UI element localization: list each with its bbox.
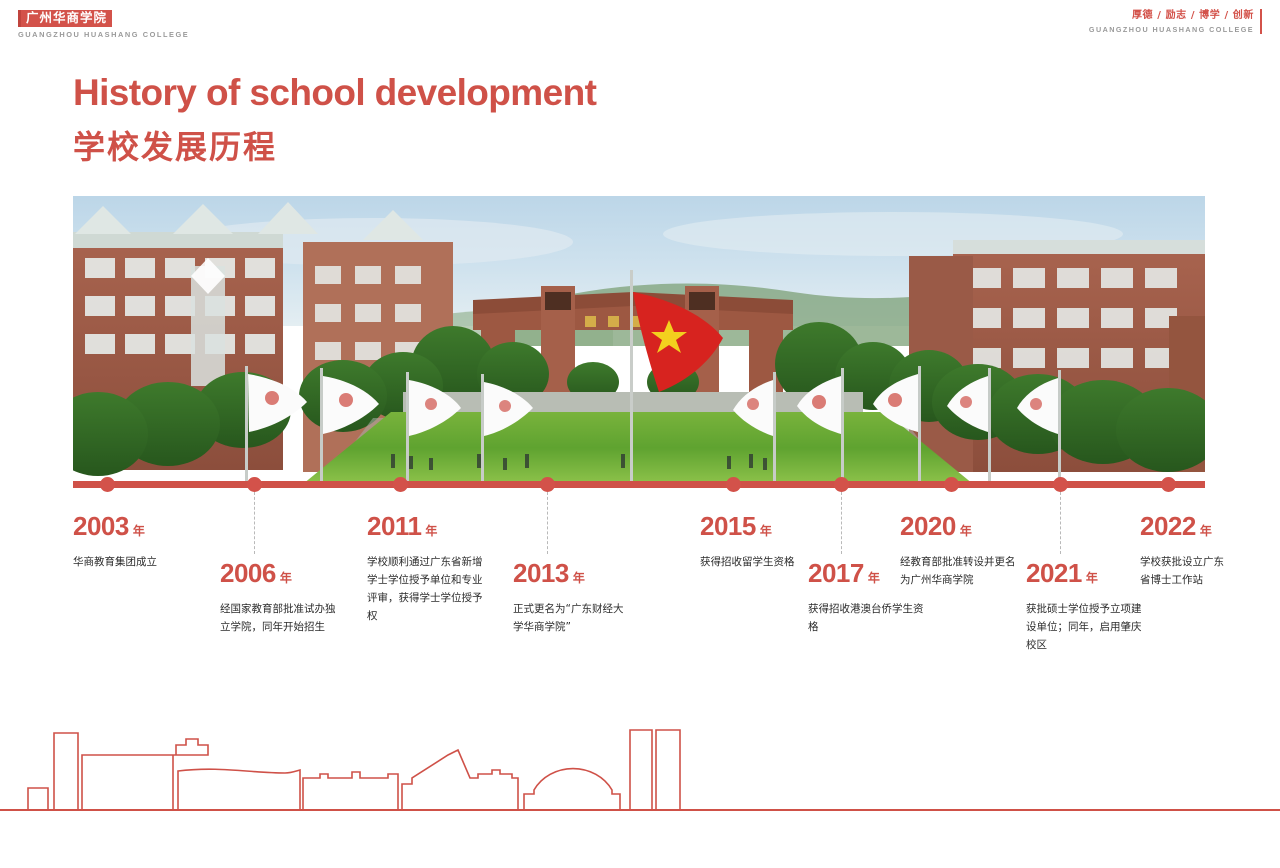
timeline-dot-2003[interactable]	[100, 477, 115, 492]
timeline-year-2006: 2006年	[220, 558, 340, 589]
motto-chinese: 厚德 / 励志 / 博学 / 创新	[1089, 9, 1254, 22]
timeline-description-2011: 学校顺利通过广东省新增学士学位授予单位和专业评审，获得学士学位授予权	[367, 553, 487, 625]
timeline-description-2015: 获得招收留学生资格	[700, 553, 820, 571]
timeline-dot-2022[interactable]	[1161, 477, 1176, 492]
timeline-year-suffix: 年	[425, 524, 437, 538]
timeline-year-2021: 2021年	[1026, 558, 1146, 589]
timeline-connector-2021	[1060, 492, 1061, 554]
timeline-year-suffix: 年	[133, 524, 145, 538]
timeline-connector-2013	[547, 492, 548, 554]
page-header: 广州华商学院 GUANGZHOU HUASHANG COLLEGE 厚德 / 励…	[0, 0, 1280, 46]
timeline-dot-2013[interactable]	[540, 477, 555, 492]
timeline-year-number: 2013	[513, 558, 569, 588]
timeline-entry-2011[interactable]: 2011年学校顺利通过广东省新增学士学位授予单位和专业评审，获得学士学位授予权	[367, 511, 487, 625]
timeline-year-2015: 2015年	[700, 511, 820, 542]
page-title-english: History of school development	[73, 72, 596, 114]
timeline-connector-2017	[841, 492, 842, 554]
timeline-entry-2015[interactable]: 2015年获得招收留学生资格	[700, 511, 820, 571]
timeline-description-2022: 学校获批设立广东省博士工作站	[1140, 553, 1232, 589]
timeline-year-suffix: 年	[760, 524, 772, 538]
timeline-year-2022: 2022年	[1140, 511, 1232, 542]
timeline-year-2011: 2011年	[367, 511, 487, 542]
logo-badge-cn: 广州华商学院	[18, 10, 112, 27]
timeline-dot-2017[interactable]	[834, 477, 849, 492]
timeline-connector-2006	[254, 492, 255, 554]
footer-skyline	[0, 700, 1280, 820]
timeline-year-suffix: 年	[573, 571, 585, 585]
timeline-year-2003: 2003年	[73, 511, 213, 542]
timeline-entry-2020[interactable]: 2020年经教育部批准转设并更名为广州华商学院	[900, 511, 1020, 589]
campus-photo	[73, 196, 1205, 484]
logo-subtitle-en: GUANGZHOU HUASHANG COLLEGE	[18, 30, 189, 39]
timeline-year-number: 2011	[367, 511, 421, 541]
timeline-year-number: 2015	[700, 511, 756, 541]
timeline-description-2017: 获得招收港澳台侨学生资格	[808, 600, 928, 636]
timeline-entry-2013[interactable]: 2013年正式更名为“广东财经大学华商学院”	[513, 558, 633, 636]
brand-logo: 广州华商学院 GUANGZHOU HUASHANG COLLEGE	[18, 9, 189, 39]
timeline-year-2020: 2020年	[900, 511, 1020, 542]
timeline-year-number: 2006	[220, 558, 276, 588]
timeline-year-number: 2021	[1026, 558, 1082, 588]
timeline-year-number: 2020	[900, 511, 956, 541]
footer-rule	[0, 809, 1280, 811]
timeline-entry-2022[interactable]: 2022年学校获批设立广东省博士工作站	[1140, 511, 1232, 589]
timeline-dot-2020[interactable]	[944, 477, 959, 492]
motto-english: GUANGZHOU HUASHANG COLLEGE	[1089, 25, 1254, 34]
timeline-entry-2003[interactable]: 2003年华商教育集团成立	[73, 511, 213, 571]
timeline-year-suffix: 年	[1086, 571, 1098, 585]
timeline-year-suffix: 年	[868, 571, 880, 585]
timeline-year-number: 2017	[808, 558, 864, 588]
timeline-entry-2006[interactable]: 2006年经国家教育部批准试办独立学院，同年开始招生	[220, 558, 340, 636]
timeline-dot-2006[interactable]	[247, 477, 262, 492]
timeline-entry-2021[interactable]: 2021年获批硕士学位授予立项建设单位；同年，启用肇庆校区	[1026, 558, 1146, 654]
timeline-year-suffix: 年	[280, 571, 292, 585]
timeline-description-2021: 获批硕士学位授予立项建设单位；同年，启用肇庆校区	[1026, 600, 1146, 654]
timeline-year-number: 2003	[73, 511, 129, 541]
timeline-year-suffix: 年	[1200, 524, 1212, 538]
timeline-description-2020: 经教育部批准转设并更名为广州华商学院	[900, 553, 1020, 589]
timeline-year-suffix: 年	[960, 524, 972, 538]
brand-motto: 厚德 / 励志 / 博学 / 创新 GUANGZHOU HUASHANG COL…	[1089, 9, 1262, 34]
campus-photo-illustration	[73, 196, 1205, 484]
timeline-dot-2015[interactable]	[726, 477, 741, 492]
timeline-dot-2021[interactable]	[1053, 477, 1068, 492]
skyline-outline-icon	[0, 700, 1280, 820]
page-title-chinese: 学校发展历程	[73, 122, 277, 168]
timeline-bar	[73, 481, 1205, 488]
timeline-dot-2011[interactable]	[393, 477, 408, 492]
timeline-description-2003: 华商教育集团成立	[73, 553, 213, 571]
timeline-description-2013: 正式更名为“广东财经大学华商学院”	[513, 600, 633, 636]
timeline-year-number: 2022	[1140, 511, 1196, 541]
timeline-description-2006: 经国家教育部批准试办独立学院，同年开始招生	[220, 600, 340, 636]
timeline-year-2013: 2013年	[513, 558, 633, 589]
